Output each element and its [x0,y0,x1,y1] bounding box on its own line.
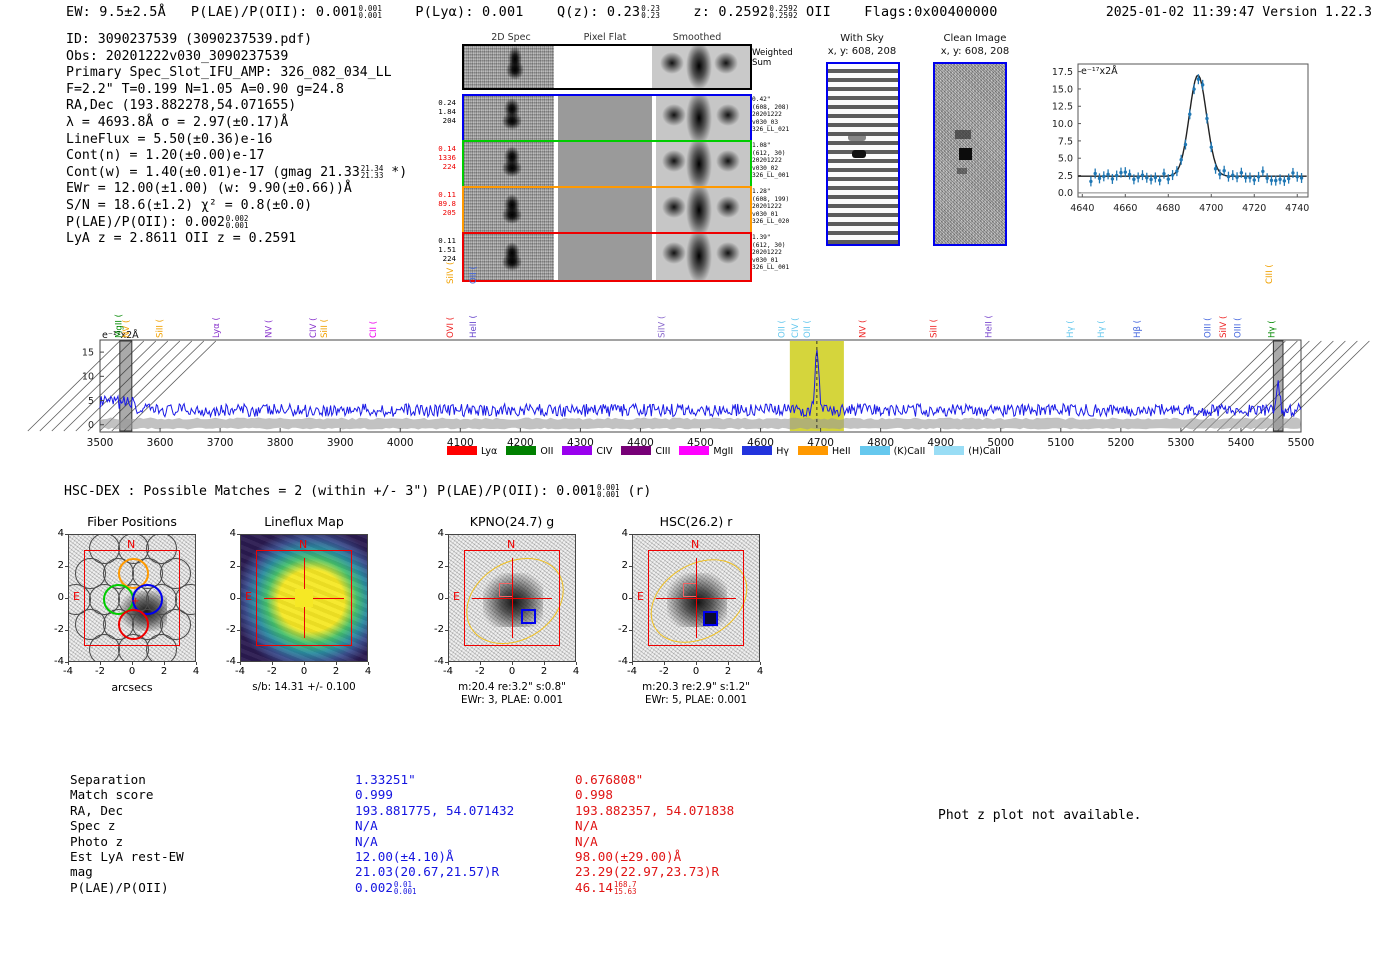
cutout-xtick: 0 [293,666,315,677]
fiber-meta-value: v030_03 [752,119,808,127]
cutout-xtick: 2 [153,666,175,677]
fiber-meta-value: 20201222 [752,157,808,165]
fiber-stat-value: 224 [430,162,456,171]
cutout-ytick: 0 [216,592,236,603]
cutout-ytick: -2 [216,624,236,635]
clean-image [933,62,1007,246]
fiber-stat-value: 89.8 [430,199,456,208]
legend-item: (H)CaII [934,446,1001,457]
cutout-ytick: -2 [44,624,64,635]
fiber-stat-value: 0.14 [430,144,456,153]
match-plae-lo: 15.63 [614,887,637,896]
header-plae-label: P(LAE)/P(OII): [191,4,308,20]
cutout-xtick-mark [368,662,369,665]
cutout-ytick: 2 [216,560,236,571]
cutout-xtick-mark [760,662,761,665]
crosshair-center-gap [295,589,313,607]
fiber-row-metadata: 1.08"(612, 30)20201222v030_02326_LL_001 [752,142,808,180]
svg-text:5100: 5100 [1047,437,1074,449]
fiber-row-metadata: 1.28"(608, 199)20201222v030_01326_LL_020 [752,188,808,226]
cutout-ytick: 2 [44,560,64,571]
match-table-plae: 46.14168.715.63 [575,880,815,895]
cutout-ytick: -2 [608,624,628,635]
spectrum-line-label: OII ( [469,266,479,284]
match-table-value: 98.00(±29.00)Å [575,849,815,864]
fiber-stat-value: 205 [430,208,456,217]
with-sky-coords: x, y: 608, 208 [812,46,912,57]
compass-north: N [127,538,135,551]
cutout-ytick-mark [445,630,448,631]
column-title-2dspec: 2D Spec [466,32,556,43]
header-z-label: z: [693,4,710,20]
svg-text:3700: 3700 [207,437,234,449]
match-table-label: Est LyA rest-EW [70,849,285,864]
cutout-xtick-mark [576,662,577,665]
header-qz-value: 0.23 [607,4,640,20]
legend-item: Hγ [742,446,789,457]
info-sn-chi2: S/N = 18.6(±1.2) χ² = 0.8(±0.0) [66,198,407,215]
phot-z-message: Phot z plot not available. [938,808,1142,823]
cutout-xtick: 2 [533,666,555,677]
clean-image-title: Clean Image [920,33,1030,44]
spectrum-line-label: OIII ( [1233,318,1243,338]
cutout-ytick-mark [629,630,632,631]
crosshair-center-gap [503,589,521,607]
match-table-label: Match score [70,787,285,802]
cutout-ytick-mark [237,630,240,631]
crosshair-center-gap [687,589,705,607]
legend-swatch [621,446,651,455]
header-flags: Flags:0x00400000 [864,4,997,20]
fiber-meta-value: 326_LL_001 [752,172,808,180]
svg-text:7.5: 7.5 [1058,136,1073,147]
with-sky-title: With Sky [812,33,912,44]
compass-north: N [691,538,699,551]
emission-zoom-svg: 0.02.55.07.510.012.515.017.5464046604680… [1032,56,1314,221]
cutout-xtick: -2 [261,666,283,677]
fiber-stat-value: 1.51 [430,245,456,254]
emission-line-zoom-plot: 0.02.55.07.510.012.515.017.5464046604680… [1032,56,1314,221]
match-table-value: 193.882357, 54.071838 [575,803,815,818]
cutout-title: Lineflux Map [216,514,392,529]
spectrum-line-label: SiIV ( [657,316,667,338]
svg-text:5400: 5400 [1228,437,1255,449]
compass-east: E [453,590,460,603]
cutout-xtick-mark [336,662,337,665]
svg-text:15: 15 [82,348,94,359]
cutout-caption-primary: m:20.3 re:2.9" s:1.2" [598,681,794,693]
header-plya-label: P(Lyα): [415,4,473,20]
svg-text:4740: 4740 [1285,203,1309,214]
spectrum-line-label: SiII ( [929,319,939,338]
cutout-xtick: 2 [717,666,739,677]
fiber-meta-value: 0.42" [752,96,808,104]
header-ew: EW: 9.5±2.5Å [66,4,166,20]
source-info-block: ID: 3090237539 (3090237539.pdf) Obs: 202… [66,32,407,248]
match-table-plae: 0.0020.010.001 [355,880,585,895]
fiber-row-left-stats: 0.241.84204 [430,98,456,125]
cutout-xtick: -2 [89,666,111,677]
cutout-xtick: -4 [229,666,251,677]
compass-east: E [637,590,644,603]
cutout-xtick-mark [196,662,197,665]
column-title-pixelflat: Pixel Flat [560,32,650,43]
match-table-value: 0.998 [575,787,815,802]
legend-label: (K)CaII [894,446,926,457]
compass-east: E [245,590,252,603]
legend-label: (H)CaII [968,446,1001,457]
weighted-sum-row [462,44,752,90]
header-summary-line: EW: 9.5±2.5Å P(LAE)/P(OII): 0.0010.0010.… [66,4,998,20]
header-plae-value: 0.001 [316,4,358,20]
legend-swatch [934,446,964,455]
match-table-label: P(LAE)/P(OII) [70,880,285,895]
legend-swatch [860,446,890,455]
spectrum-line-label: CII ( [369,321,379,338]
svg-text:3800: 3800 [267,437,294,449]
fiber-row-left-stats: 0.141336224 [430,144,456,171]
cutout-ytick: 0 [44,592,64,603]
cutout-xtick: -2 [469,666,491,677]
header-plae-lo: 0.001 [358,11,382,20]
cutout-ytick-mark [445,534,448,535]
cutout-ytick: 4 [608,528,628,539]
cutout-xlabel: arcsecs [48,681,216,694]
match-table-value: N/A [575,834,815,849]
clean-image-coords: x, y: 608, 208 [920,46,1030,57]
info-seeing-params: F=2.2" T=0.199 N=1.05 A=0.90 g=24.8 [66,82,407,99]
hsc-dex-text: HSC-DEX : Possible Matches = 2 (within +… [64,484,596,499]
spectrum-line-label: NV ( [265,320,275,338]
fiber-stat-value: 0.24 [430,98,456,107]
match-plae-value: 46.14 [575,880,613,895]
match-table-value: 0.676808" [575,772,815,787]
svg-text:0.0: 0.0 [1058,188,1073,199]
cutout-xtick: -2 [653,666,675,677]
header-z-value: 0.2592 [718,4,768,20]
match-table-value: N/A [355,818,585,833]
cutout-xtick-mark [132,662,133,665]
cutout-ytick-mark [445,598,448,599]
legend-swatch [679,446,709,455]
fiber-meta-value: 326_LL_001 [752,264,808,272]
svg-text:4720: 4720 [1242,203,1266,214]
fiber-meta-value: v030_02 [752,165,808,173]
svg-text:5.0: 5.0 [1058,154,1073,165]
fiber-stat-value: 1336 [430,153,456,162]
fiber-meta-value: 326_LL_020 [752,218,808,226]
spectrum-line-label: SiIV ( [446,262,456,284]
compass-north: N [299,538,307,551]
info-cont-w: Cont(w) = 1.40(±0.01)e-17 (gmag 21.3321.… [66,165,407,182]
fiber-row-image [462,94,752,144]
fiber-meta-value: 326_LL_021 [752,126,808,134]
match-table-value: 21.03(20.67,21.57)R [355,864,585,879]
svg-text:5300: 5300 [1168,437,1195,449]
fiber-meta-value: v030_01 [752,257,808,265]
legend-label: HeII [832,446,851,457]
cutout-ytick-mark [237,534,240,535]
info-lambda-sigma: λ = 4693.8Å σ = 2.97(±0.17)Å [66,115,407,132]
spectrum-line-label: SiII ( [155,319,165,338]
svg-text:12.5: 12.5 [1052,102,1073,113]
legend-label: CIV [596,446,612,457]
compass-east: E [73,590,80,603]
spectrum-legend: LyαOIICIVCIIIMgIIHγHeII(K)CaII(H)CaII [447,446,1010,457]
legend-item: HeII [798,446,851,457]
spectrum-line-label: OII ( [778,320,788,338]
fiber-row-image [462,140,752,190]
spec2d-panel: 2D Spec Pixel Flat Smoothed Weighted Sum… [430,32,760,257]
cutout-ytick: 0 [424,592,444,603]
match-table-value: 193.881775, 54.071432 [355,803,585,818]
cutout-xtick: 4 [357,666,379,677]
cutout-xtick: -4 [437,666,459,677]
match-table-label: Spec z [70,818,285,833]
spectrum-line-label: Hγ ( [1066,320,1076,338]
fiber-row-image [462,186,752,236]
cutout-ytick: 2 [608,560,628,571]
cutout-caption-primary: s/b: 14.31 +/- 0.100 [206,681,402,693]
fiber-stat-value: 0.11 [430,190,456,199]
legend-swatch [506,446,536,455]
match-table-labels: SeparationMatch scoreRA, DecSpec zPhoto … [70,772,285,895]
legend-item: (K)CaII [860,446,926,457]
match-table-value: 12.00(±4.10)Å [355,849,585,864]
spectrum-line-label: OVI ( [446,317,456,338]
cutout-xtick-mark [664,662,665,665]
cutout-xtick-mark [632,662,633,665]
match-table-label: RA, Dec [70,803,285,818]
cutout-title: Fiber Positions [44,514,220,529]
info-redshifts: LyA z = 2.8611 OII z = 0.2591 [66,231,407,248]
match-table-value: N/A [355,834,585,849]
header-plya-value: 0.001 [482,4,524,20]
fiber-row-image [462,232,752,282]
legend-item: Lyα [447,446,497,457]
cutout-ytick-mark [65,630,68,631]
info-ewr: EWr = 12.00(±1.00) (w: 9.90(±0.66))Å [66,181,407,198]
cutout-xtick: 4 [185,666,207,677]
fiber-row-left-stats: 0.1189.8205 [430,190,456,217]
legend-swatch [798,446,828,455]
fiber-meta-value: (608, 208) [752,104,808,112]
fiber-meta-value: v030_01 [752,211,808,219]
spectrum-line-label: Hγ ( [1268,320,1278,338]
spectrum-line-label: Hβ ( [1133,320,1143,338]
match-table-value: 23.29(22.97,23.73)R [575,864,815,879]
weighted-sum-label: Weighted Sum [752,48,793,68]
info-plae-poii: P(LAE)/P(OII): 0.0020.0020.001 [66,215,407,232]
fiber-stat-value: 0.11 [430,236,456,245]
match-plae-lo: 0.001 [394,887,417,896]
cutout-xtick-mark [544,662,545,665]
cutout-ytick-mark [237,598,240,599]
match-table-column-a: 1.33251"0.999193.881775, 54.071432N/AN/A… [355,772,585,895]
cutout-caption-primary: m:20.4 re:3.2" s:0.8" [414,681,610,693]
cutout-xtick: 0 [685,666,707,677]
legend-item: OII [506,446,553,457]
timestamp-version: 2025-01-02 11:39:47 Version 1.22.3 [1106,5,1372,20]
info-plae-lo: 0.001 [226,221,249,230]
cutout-ytick-mark [65,598,68,599]
match-table-value: N/A [575,818,815,833]
fiber-meta-value: 1.28" [752,188,808,196]
info-id: ID: 3090237539 (3090237539.pdf) [66,32,407,49]
svg-text:4680: 4680 [1156,203,1180,214]
cutout-ytick-mark [65,566,68,567]
svg-text:5200: 5200 [1107,437,1134,449]
cutout-ytick-mark [629,534,632,535]
cutout-xtick-mark [164,662,165,665]
cutout-ytick: 4 [44,528,64,539]
hsc-dex-lo: 0.001 [597,490,620,499]
header-qz-label: Q(z): [557,4,599,20]
spectrum-line-label: Hγ ( [1097,320,1107,338]
cutout-title: KPNO(24.7) g [424,514,600,529]
legend-label: Lyα [481,446,497,457]
info-plae-text: P(LAE)/P(OII): 0.002 [66,215,225,230]
fiber-meta-value: (612, 30) [752,242,808,250]
svg-text:10: 10 [82,372,94,383]
legend-label: MgII [713,446,733,457]
info-radec: RA,Dec (193.882278,54.071655) [66,98,407,115]
cutout-xtick: 4 [749,666,771,677]
cutout-xtick: 0 [121,666,143,677]
cutout-xtick-mark [480,662,481,665]
cutout-ytick-mark [629,566,632,567]
header-qz-lo: 0.23 [641,11,660,20]
spectrum-line-label: SiIV ( [1219,316,1229,338]
cutout-ytick-mark [237,566,240,567]
svg-text:4640: 4640 [1070,203,1094,214]
svg-text:4700: 4700 [1199,203,1223,214]
spectrum-line-label: NV ( [122,320,132,338]
info-cont-w-text: Cont(w) = 1.40(±0.01)e-17 (gmag 21.33 [66,165,360,180]
full-spectrum-svg: 0510153500360037003800390040004100420043… [100,278,1301,442]
cutout-caption-secondary: EWr: 3, PLAE: 0.001 [414,694,610,706]
hsc-dex-filter: (r) [627,484,651,499]
match-table-value: 0.999 [355,787,585,802]
cutout-xtick: 0 [501,666,523,677]
compass-north: N [507,538,515,551]
svg-text:4660: 4660 [1113,203,1137,214]
spectrum-line-label: CIV ( [791,318,801,339]
cutout-xtick-mark [272,662,273,665]
spectrum-line-label: HeII ( [469,315,479,338]
spectrum-line-label: SiII ( [320,319,330,338]
svg-text:17.5: 17.5 [1052,67,1073,78]
info-cont-n: Cont(n) = 1.20(±0.00)e-17 [66,148,407,165]
fiber-meta-value: 1.08" [752,142,808,150]
header-z-lo: 0.2592 [769,11,797,20]
cutout-xtick-mark [696,662,697,665]
match-table-label: Separation [70,772,285,787]
hsc-dex-summary: HSC-DEX : Possible Matches = 2 (within +… [64,484,651,499]
cutout-ytick-mark [629,598,632,599]
legend-swatch [742,446,772,455]
cutout-xtick-mark [448,662,449,665]
svg-text:4000: 4000 [387,437,414,449]
match-table-column-b: 0.676808"0.998193.882357, 54.071838N/AN/… [575,772,815,895]
cutout-xtick: -4 [621,666,643,677]
cutout-ytick-mark [445,566,448,567]
cutout-ytick-mark [65,534,68,535]
fiber-row-metadata: 0.42"(608, 208)20201222v030_03326_LL_021 [752,96,808,134]
cutout-ytick: 0 [608,592,628,603]
with-sky-image [826,62,900,246]
legend-item: MgII [679,446,733,457]
svg-text:3900: 3900 [327,437,354,449]
legend-label: CIII [655,446,670,457]
fiber-row-left-stats: 0.111.51224 [430,236,456,263]
spectrum-line-label: HeII ( [985,315,995,338]
full-spectrum-panel: 0510153500360037003800390040004100420043… [100,340,1301,432]
fiber-meta-value: 1.39" [752,234,808,242]
header-z-type: OII [806,4,831,20]
match-table-label: Photo z [70,834,285,849]
spectrum-line-label: CIII ( [1265,264,1275,284]
info-lineflux: LineFlux = 5.50(±0.36)e-16 [66,132,407,149]
cutout-title: HSC(26.2) r [608,514,784,529]
fiber-meta-value: 20201222 [752,249,808,257]
svg-text:3600: 3600 [147,437,174,449]
cutout-ytick: 2 [424,560,444,571]
match-plae-value: 0.002 [355,880,393,895]
fiber-row-metadata: 1.39"(612, 30)20201222v030_01326_LL_001 [752,234,808,272]
info-obs: Obs: 20201222v030_3090237539 [66,49,407,66]
svg-text:5500: 5500 [1288,437,1315,449]
match-table-value: 1.33251" [355,772,585,787]
fiber-meta-value: 20201222 [752,111,808,119]
aperture-box [84,550,180,646]
spectrum-line-label: CIV ( [309,318,319,339]
cutout-ytick: 4 [424,528,444,539]
svg-text:15.0: 15.0 [1052,84,1073,95]
svg-text:3500: 3500 [87,437,114,449]
cutout-ytick: 4 [216,528,236,539]
legend-swatch [562,446,592,455]
legend-item: CIV [562,446,612,457]
legend-label: Hγ [776,446,789,457]
cutout-xtick-mark [512,662,513,665]
legend-swatch [447,446,477,455]
info-cont-w-lo: 21.33 [361,171,384,180]
match-table-label: mag [70,864,285,879]
info-primary-spec-slot: Primary Spec_Slot_IFU_AMP: 326_082_034_L… [66,65,407,82]
spectrum-line-label: OIII ( [1203,318,1213,338]
cutout-caption-secondary: EWr: 5, PLAE: 0.001 [598,694,794,706]
fiber-meta-value: 20201222 [752,203,808,211]
info-cont-w-post: *) [391,165,407,180]
cutout-xtick-mark [304,662,305,665]
cutout-ytick: -2 [424,624,444,635]
svg-text:10.0: 10.0 [1052,119,1073,130]
cutout-xtick: 4 [565,666,587,677]
fiber-meta-value: (612, 30) [752,150,808,158]
legend-label: OII [540,446,553,457]
cutout-xtick-mark [100,662,101,665]
cutout-xtick: 2 [325,666,347,677]
legend-item: CIII [621,446,670,457]
cutout-xtick-mark [728,662,729,665]
svg-text:2.5: 2.5 [1058,171,1073,182]
svg-text:0: 0 [88,420,94,431]
fiber-meta-value: (608, 199) [752,196,808,204]
cutout-xtick: -4 [57,666,79,677]
cutout-xtick-mark [68,662,69,665]
column-title-smoothed: Smoothed [652,32,742,43]
